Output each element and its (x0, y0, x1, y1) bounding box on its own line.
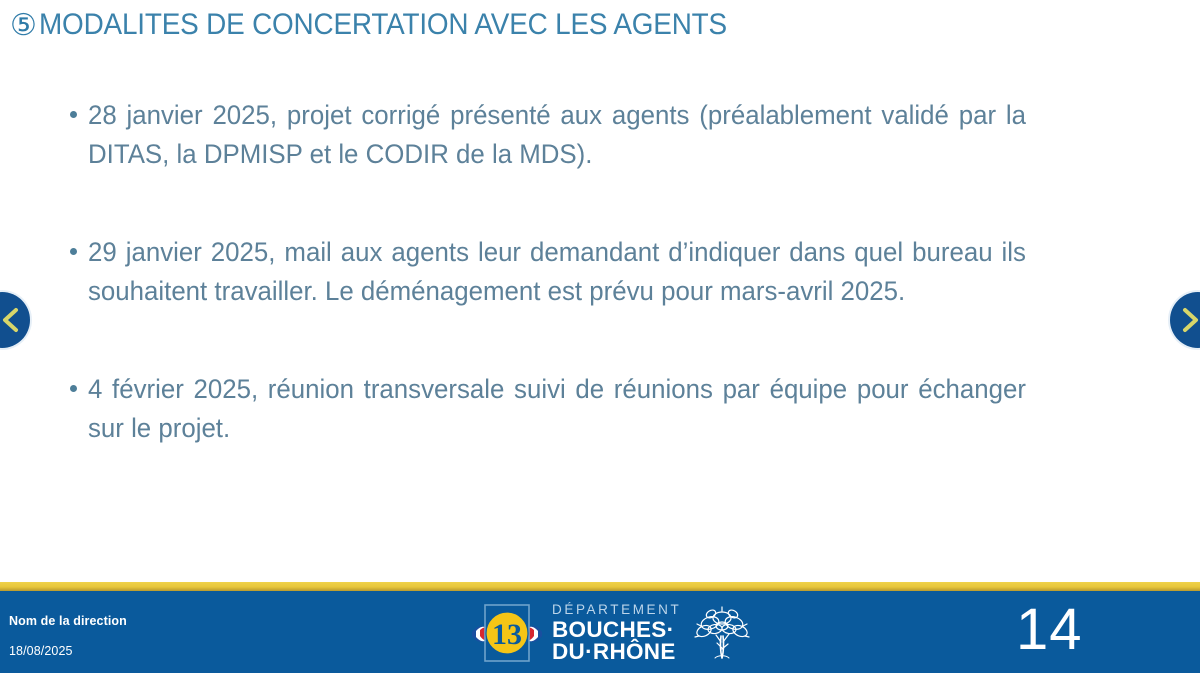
list-item: 4 février 2025, réunion transversale sui… (70, 370, 1050, 448)
presentation-slide: ⑤ MODALITES DE CONCERTATION AVEC LES AGE… (0, 0, 1200, 673)
footer-divider (0, 582, 1200, 591)
chevron-left-icon (0, 306, 20, 334)
chevron-right-icon (1180, 306, 1200, 334)
bullet-dot-icon (70, 385, 77, 392)
bullet-text: 29 janvier 2025, mail aux agents leur de… (88, 233, 1026, 311)
bullet-dot-icon (70, 248, 77, 255)
slide-page-number: 14 (1016, 597, 1083, 663)
logo-departement-label: DÉPARTEMENT (552, 603, 681, 617)
svg-text:13: 13 (492, 618, 522, 651)
olive-tree-icon (691, 602, 753, 664)
bullet-text: 4 février 2025, réunion transversale sui… (88, 370, 1026, 448)
list-item: 29 janvier 2025, mail aux agents leur de… (70, 233, 1050, 311)
department-logo: 13 DÉPARTEMENT BOUCHES· DU·RHÔNE (470, 600, 753, 666)
logo-wordmark: DÉPARTEMENT BOUCHES· DU·RHÔNE (552, 603, 681, 664)
logo-emblem-icon: 13 (470, 602, 544, 664)
page-title: ⑤ MODALITES DE CONCERTATION AVEC LES AGE… (10, 10, 779, 40)
bullet-dot-icon (70, 111, 77, 118)
logo-line2-label: DU·RHÔNE (552, 641, 681, 663)
circled-number-icon: ⑤ (10, 11, 37, 41)
logo-line1-label: BOUCHES· (552, 619, 681, 641)
slide-title-text: MODALITES DE CONCERTATION AVEC LES AGENT… (39, 10, 727, 40)
bullet-text: 28 janvier 2025, projet corrigé présenté… (88, 96, 1026, 174)
bullet-list: 28 janvier 2025, projet corrigé présenté… (70, 96, 1050, 448)
previous-slide-button[interactable] (0, 292, 30, 348)
footer-direction-label: Nom de la direction (9, 613, 127, 629)
footer-meta: Nom de la direction 18/08/2025 (9, 613, 127, 659)
footer-date-label: 18/08/2025 (9, 643, 127, 659)
next-slide-button[interactable] (1170, 292, 1200, 348)
list-item: 28 janvier 2025, projet corrigé présenté… (70, 96, 1050, 174)
